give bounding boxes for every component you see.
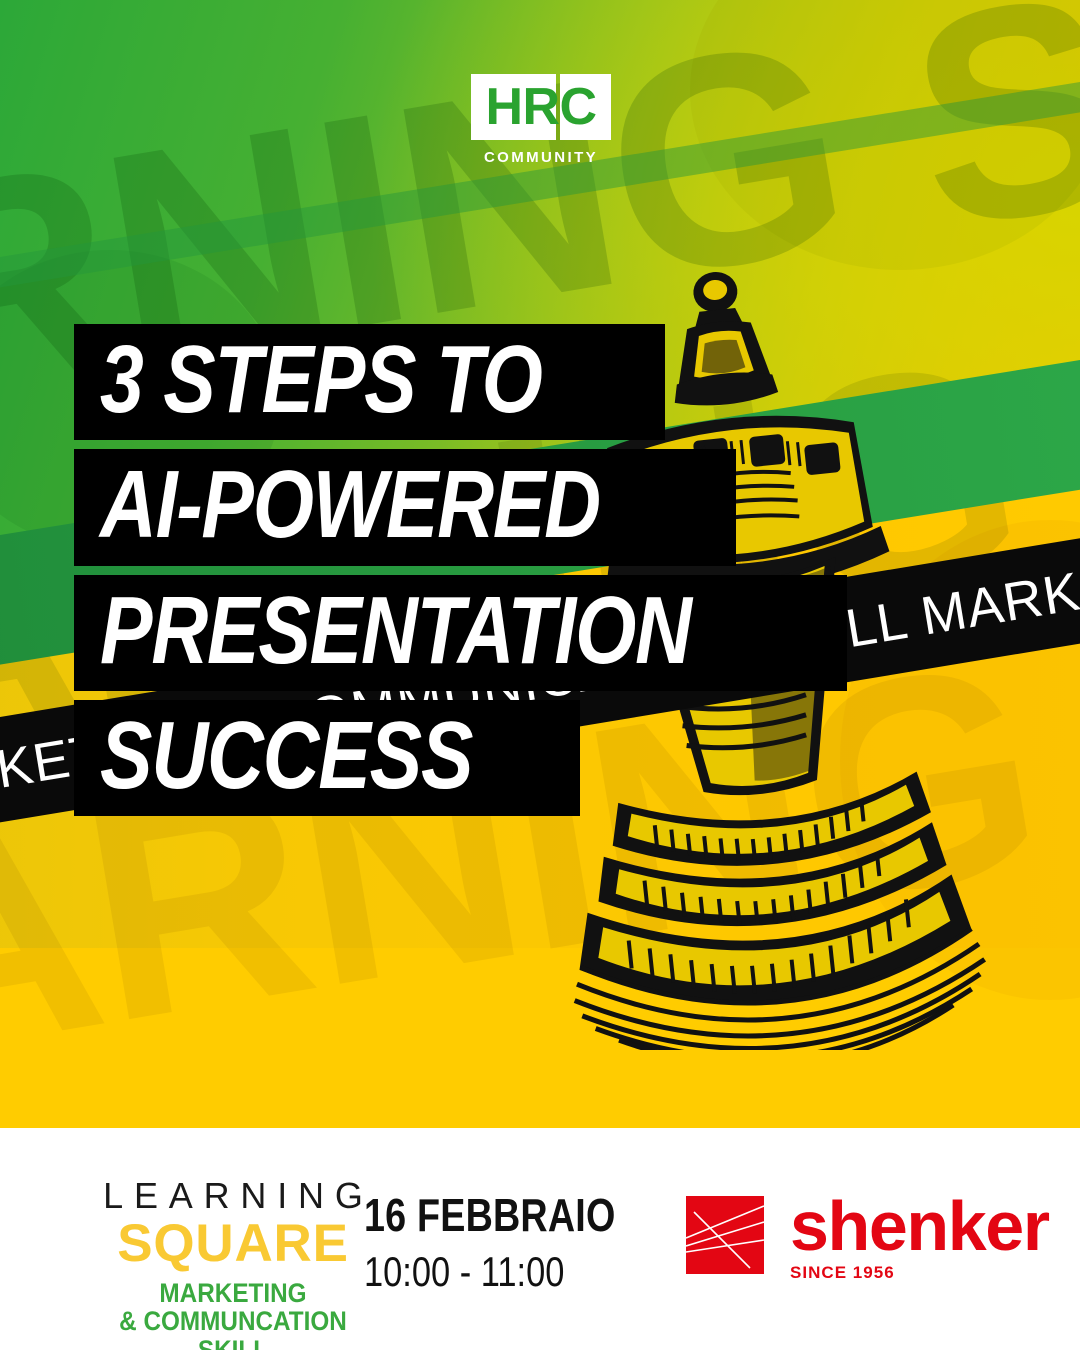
learning-square-subtitle: MARKETING & COMMUNCATION SKILL: [94, 1279, 373, 1350]
headline-box: 3 STEPS TO: [74, 324, 665, 440]
event-schedule: 16 FEBBRAIO 10:00 - 11:00: [364, 1188, 671, 1296]
learning-square-subtitle-line-2: & COMMUNCATION SKILL: [94, 1307, 373, 1350]
headline-box: SUCCESS: [74, 700, 580, 816]
event-date: 16 FEBBRAIO: [364, 1188, 615, 1242]
headline-line: PRESENTATION: [100, 587, 691, 675]
hrc-logo-letters: HRC: [471, 74, 611, 140]
event-time: 10:00 - 11:00: [364, 1248, 615, 1296]
shenker-logo: shenker SINCE 1956: [686, 1196, 1049, 1283]
artwork-area: RNING SQ ARNING SQU ARNING SQ: [0, 0, 1080, 1128]
headline-box: AI-POWERED: [74, 449, 736, 565]
headline-row: PRESENTATION: [74, 575, 834, 691]
learning-square-logo: LEARNING SQUARE MARKETING & COMMUNCATION…: [78, 1178, 388, 1350]
learning-square-square-text: SQUARE: [78, 1216, 388, 1272]
shenker-logo-lines-icon: [686, 1196, 764, 1274]
headline-line: 3 STEPS TO: [100, 336, 542, 424]
poster: RNING SQ ARNING SQU ARNING SQ: [0, 0, 1080, 1350]
headline-row: 3 STEPS TO: [74, 324, 834, 440]
hrc-logo-subtitle: COMMUNITY: [466, 149, 616, 166]
shenker-tagline: SINCE 1956: [790, 1263, 1049, 1283]
shenker-logo-text-group: shenker SINCE 1956: [790, 1196, 1049, 1283]
hrc-logo: HRC COMMUNITY: [466, 74, 616, 166]
headline-box: PRESENTATION: [74, 575, 847, 691]
learning-square-learning-text: LEARNING: [78, 1178, 388, 1214]
headline-line: SUCCESS: [100, 712, 472, 800]
shenker-wordmark: shenker: [790, 1196, 1049, 1256]
learning-square-subtitle-line-1: MARKETING: [94, 1279, 373, 1308]
shenker-logo-mark: [686, 1196, 764, 1274]
headline-row: AI-POWERED: [74, 449, 834, 565]
headline-row: SUCCESS: [74, 700, 834, 816]
hrc-logo-mark: HRC: [471, 74, 611, 140]
headline-line: AI-POWERED: [100, 461, 600, 549]
headline: 3 STEPS TO AI-POWERED PRESENTATION SUCCE…: [74, 324, 834, 825]
